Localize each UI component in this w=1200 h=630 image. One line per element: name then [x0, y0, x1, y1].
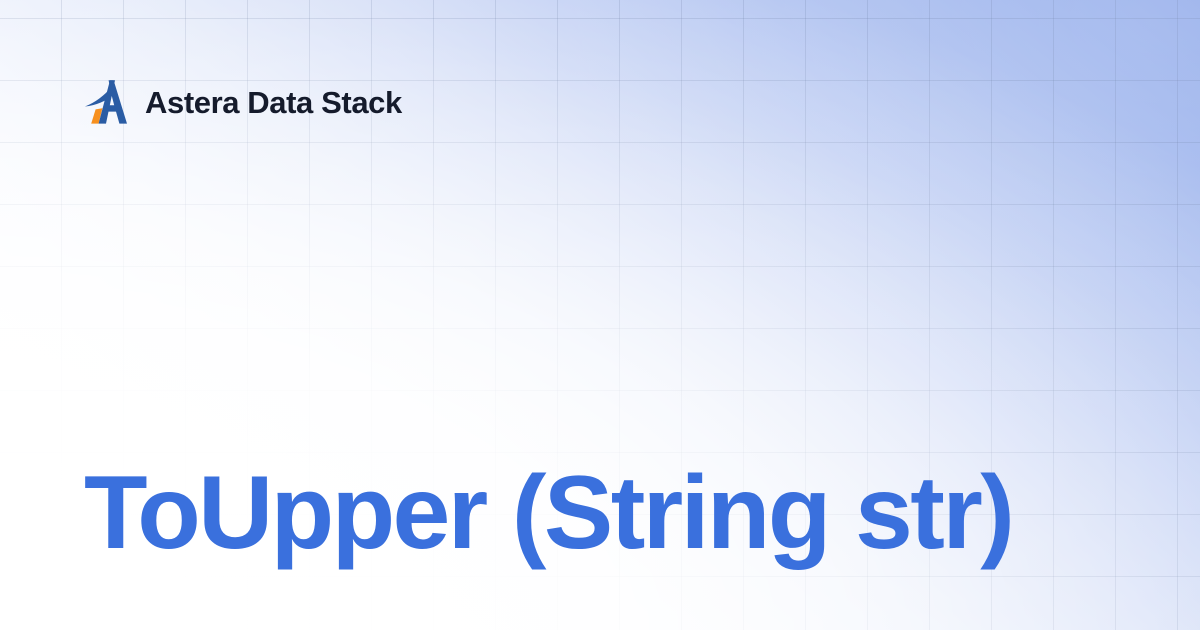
page-title: ToUpper (String str) [84, 458, 1012, 568]
social-card: Astera Data Stack ToUpper (String str) [0, 0, 1200, 630]
brand-name: Astera Data Stack [145, 87, 402, 118]
astera-a-logo-icon [84, 78, 128, 126]
brand-lockup: Astera Data Stack [84, 78, 402, 126]
